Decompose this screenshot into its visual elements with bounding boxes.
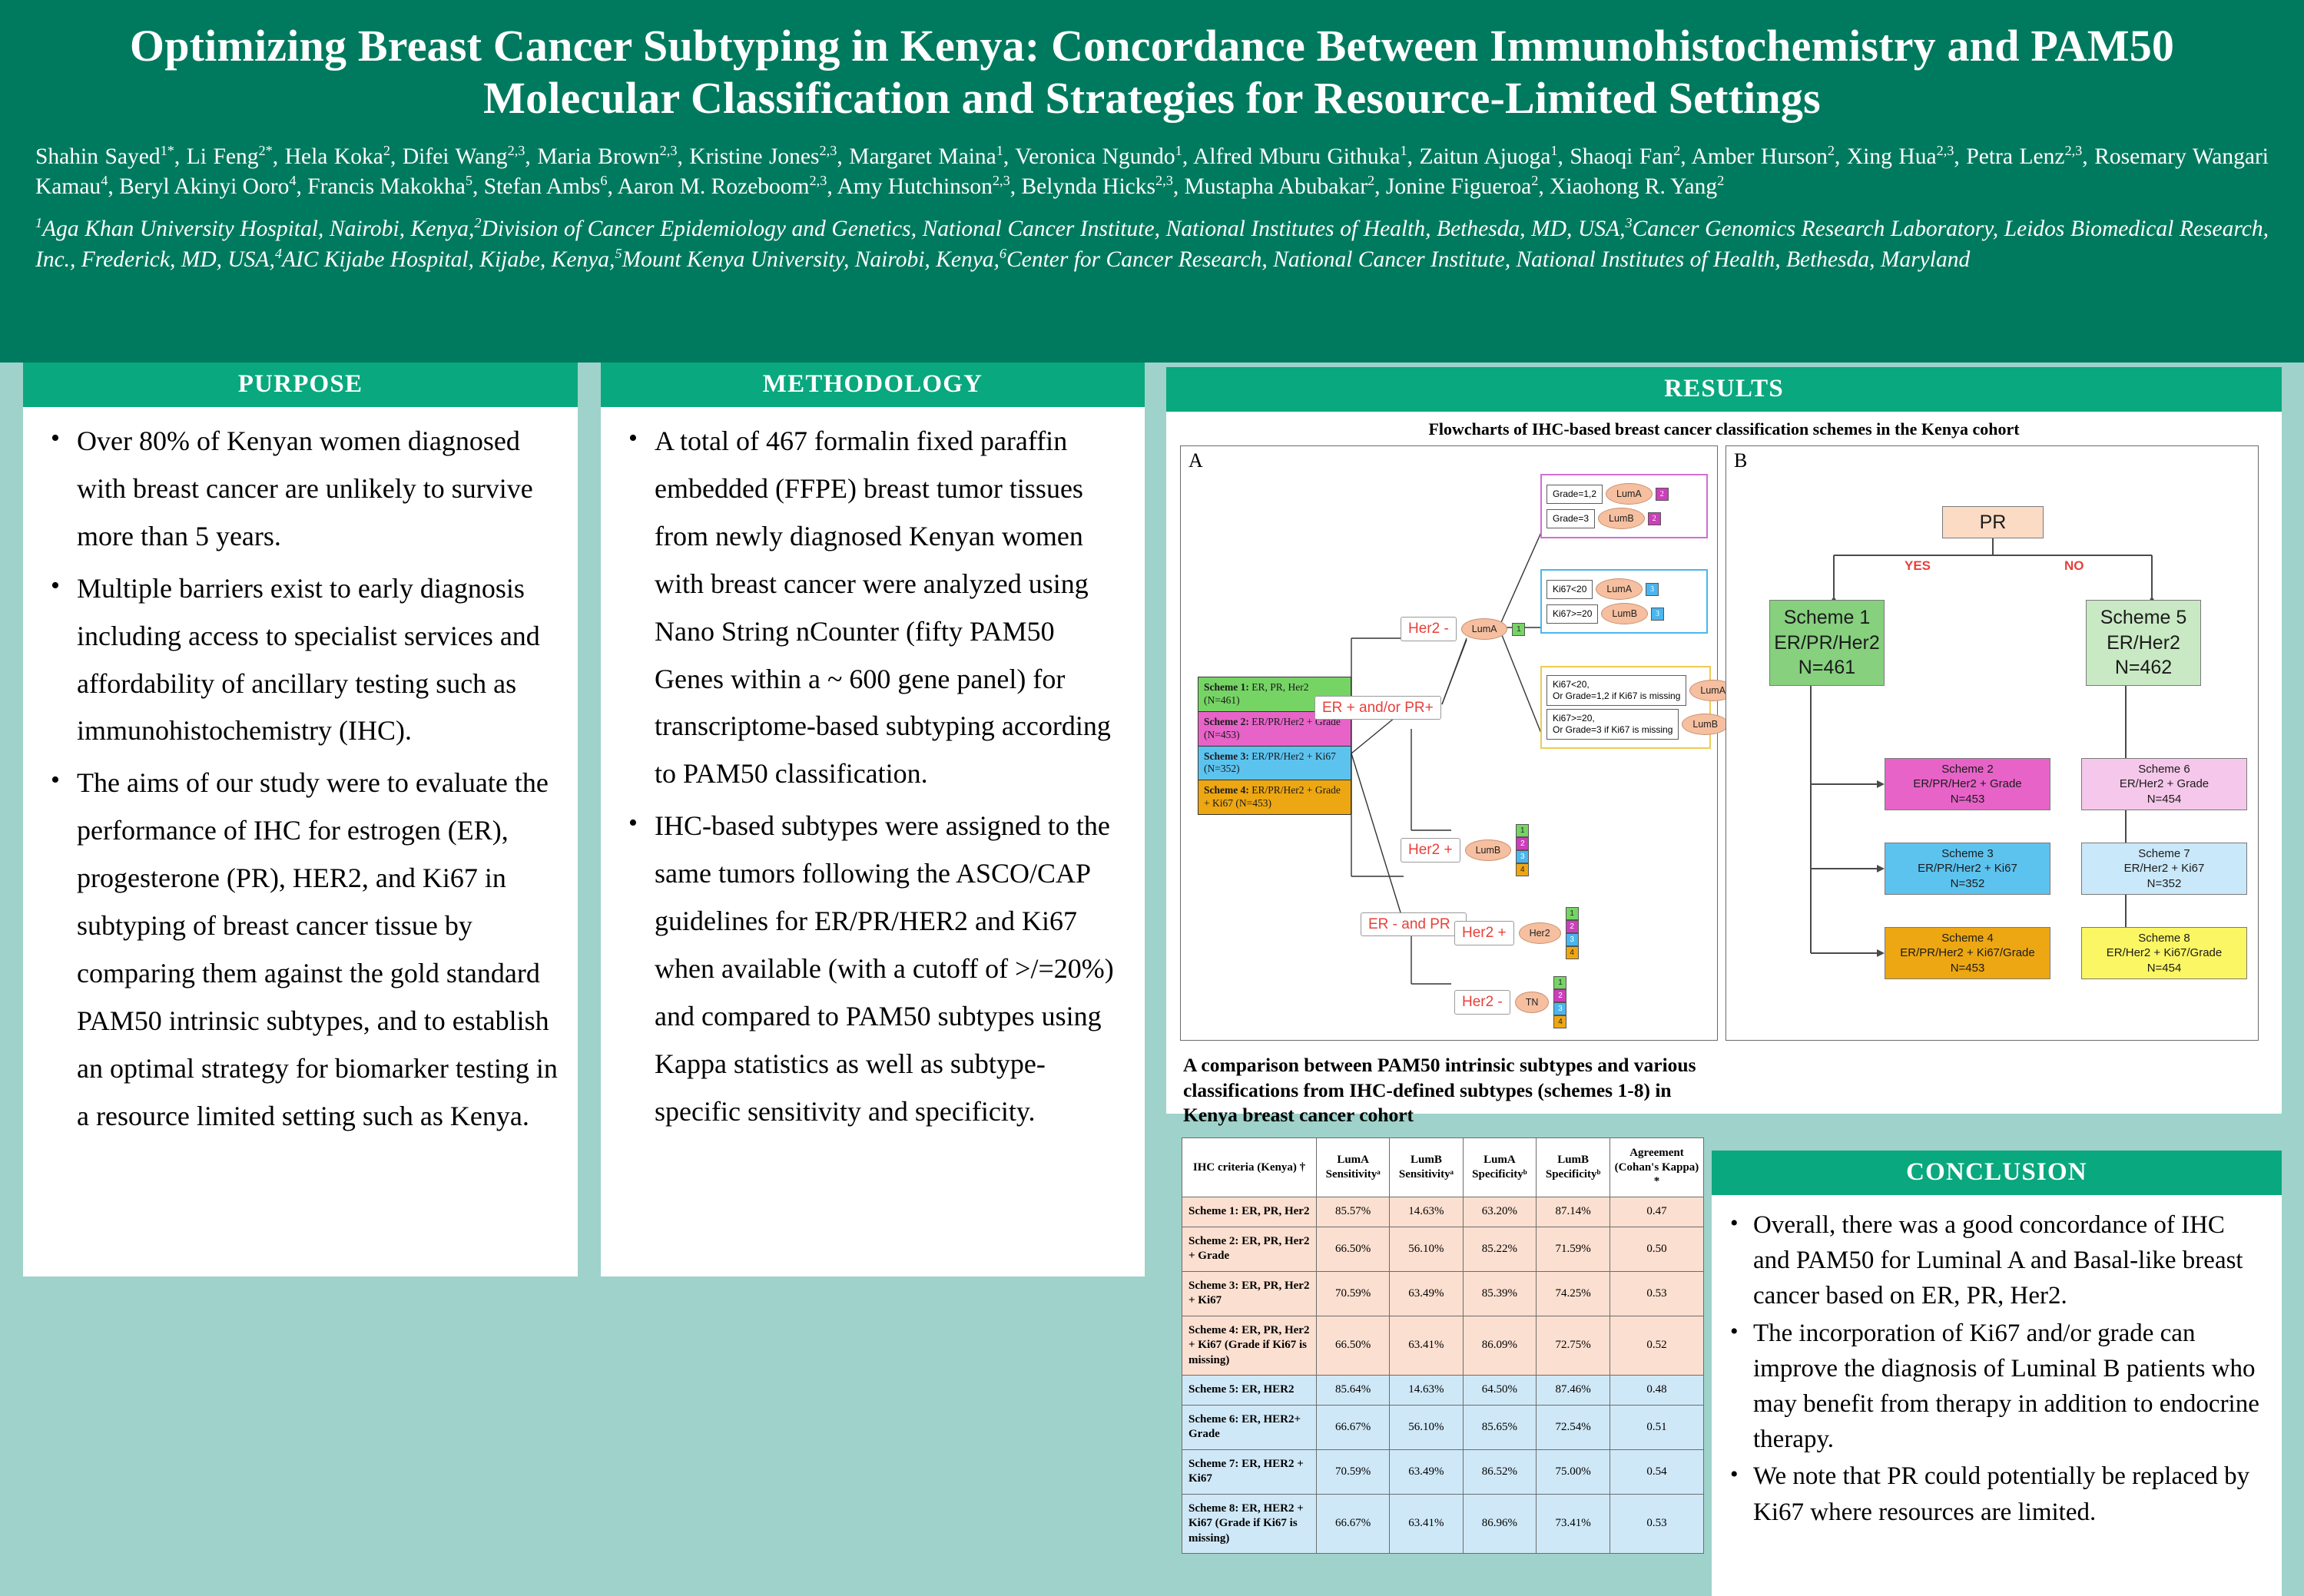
table-row: Scheme 2: ER, PR, Her2 + Grade66.50%56.1… [1182,1227,1704,1271]
table-cell: 86.09% [1463,1316,1537,1376]
table-cell: 66.50% [1317,1316,1390,1376]
er-pr-negative-node: ER - and PR - [1361,912,1467,936]
criteria-row: Ki67>=20LumB3 [1546,603,1702,624]
scheme-node: Scheme 3ER/PR/Her2 + Ki67N=352 [1885,843,2050,895]
table-column-header: LumA Specificityᵇ [1463,1137,1537,1197]
table-row-label: Scheme 7: ER, HER2 + Ki67 [1182,1449,1317,1494]
chip-3: 3 [1553,1002,1566,1015]
table-row: Scheme 1: ER, PR, Her285.57%14.63%63.20%… [1182,1197,1704,1227]
purpose-bullet: Multiple barriers exist to early diagnos… [43,565,558,756]
table-cell: 87.14% [1537,1197,1610,1227]
her2-negative-node-bottom: Her2 - [1454,990,1510,1015]
subtype-ellipse: LumB [1601,603,1648,624]
criteria-row: Ki67>=20,Or Grade=3 if Ki67 is missingLu… [1546,709,1705,740]
chip-4: 4 [1553,1015,1566,1028]
chip-2: 2 [1516,837,1529,850]
table-cell: 63.49% [1390,1449,1463,1494]
table-cell: 0.47 [1609,1197,1703,1227]
table-cell: 56.10% [1390,1405,1463,1449]
node-her2-pos-lumb: Her2 + LumB 1 2 3 4 [1401,824,1529,876]
scheme-5-root-node: Scheme 5ER/Her2N=462 [2086,600,2201,686]
table-cell: 66.67% [1317,1494,1390,1554]
chip-3: 3 [1566,933,1579,946]
table-cell: 0.50 [1609,1227,1703,1271]
table-column-header: LumB Sensitivityᵃ [1390,1137,1463,1197]
table-body: Scheme 1: ER, PR, Her285.57%14.63%63.20%… [1182,1197,1704,1554]
criteria-group-scheme2: Grade=1,2LumA2Grade=3LumB2 [1540,474,1708,538]
methodology-bullet: A total of 467 formalin fixed paraffin e… [621,418,1125,798]
table-header-row: IHC criteria (Kenya) †LumA SensitivityᵃL… [1182,1137,1704,1197]
scheme-chip: 3 [1646,583,1659,596]
table-column-header: IHC criteria (Kenya) † [1182,1137,1317,1197]
chip-1: 1 [1553,976,1566,989]
table-cell: 71.59% [1537,1227,1610,1271]
figure-caption: Flowcharts of IHC-based breast cancer cl… [1166,419,2282,439]
table-cell: 86.96% [1463,1494,1537,1554]
table-column-header: LumB Specificityᵇ [1537,1137,1610,1197]
flowchart-panel-a: A [1180,445,1718,1041]
scheme-node: Scheme 6ER/Her2 + GradeN=454 [2081,758,2247,810]
criteria-group-scheme4: Ki67<20,Or Grade=1,2 if Ki67 is missingL… [1540,666,1711,749]
table-cell: 87.46% [1537,1376,1610,1406]
table-row: Scheme 3: ER, PR, Her2 + Ki6770.59%63.49… [1182,1271,1704,1316]
table-cell: 0.54 [1609,1449,1703,1494]
table-cell: 73.41% [1537,1494,1610,1554]
methodology-heading: METHODOLOGY [601,363,1145,407]
yes-label: YES [1905,558,1931,574]
table-row: Scheme 6: ER, HER2+ Grade66.67%56.10%85.… [1182,1405,1704,1449]
table-cell: 85.57% [1317,1197,1390,1227]
scheme-node: Scheme 7ER/Her2 + Ki67N=352 [2081,843,2247,895]
table-cell: 66.67% [1317,1405,1390,1449]
table-cell: 70.59% [1317,1449,1390,1494]
er-pr-positive-node: ER + and/or PR+ [1314,696,1441,720]
section-methodology: METHODOLOGY A total of 467 formalin fixe… [601,363,1145,1276]
table-cell: 0.52 [1609,1316,1703,1376]
criteria-row: Ki67<20,Or Grade=1,2 if Ki67 is missingL… [1546,675,1705,706]
table-cell: 56.10% [1390,1227,1463,1271]
table-cell: 85.64% [1317,1376,1390,1406]
criteria-row: Ki67<20LumA3 [1546,578,1702,600]
table-row: Scheme 5: ER, HER285.64%14.63%64.50%87.4… [1182,1376,1704,1406]
her2-ellipse: Her2 [1519,922,1561,944]
chip-1: 1 [1566,907,1579,920]
no-label: NO [2064,558,2084,574]
table-caption: A comparison between PAM50 intrinsic sub… [1183,1053,1719,1128]
chip-4: 4 [1566,946,1579,959]
table-column-header: Agreement (Cohan's Kappa) * [1609,1137,1703,1197]
section-results: RESULTS Flowcharts of IHC-based breast c… [1166,367,2282,1114]
purpose-bullet: Over 80% of Kenyan women diagnosed with … [43,418,558,561]
table-cell: 0.53 [1609,1271,1703,1316]
poster-body: PURPOSE Over 80% of Kenyan women diagnos… [0,363,2304,1298]
table-row-label: Scheme 8: ER, HER2 + Ki67 (Grade if Ki67… [1182,1494,1317,1554]
table-cell: 63.41% [1390,1316,1463,1376]
table-row-label: Scheme 3: ER, PR, Her2 + Ki67 [1182,1271,1317,1316]
node-her2-neg-luminal: Her2 - LumA 1 [1401,617,1525,641]
subtype-ellipse: LumA [1606,483,1653,505]
chip-column-tn: 1 2 3 4 [1553,976,1566,1028]
criteria-row: Grade=3LumB2 [1546,508,1702,529]
table-cell: 14.63% [1390,1376,1463,1406]
criteria-group-scheme3: Ki67<20LumA3Ki67>=20LumB3 [1540,569,1708,634]
criteria-box: Grade=1,2 [1546,485,1603,504]
conclusion-bullet-list: Overall, there was a good concordance of… [1722,1207,2265,1530]
luma-ellipse-top: LumA [1461,618,1508,640]
methodology-body: A total of 467 formalin fixed paraffin e… [601,407,1145,1148]
section-purpose: PURPOSE Over 80% of Kenyan women diagnos… [23,363,578,1276]
her2-positive-node-top: Her2 + [1401,838,1460,863]
affiliation-list: 1Aga Khan University Hospital, Nairobi, … [35,214,2269,274]
table-row: Scheme 8: ER, HER2 + Ki67 (Grade if Ki67… [1182,1494,1704,1554]
table-row-label: Scheme 4: ER, PR, Her2 + Ki67 (Grade if … [1182,1316,1317,1376]
chip-4: 4 [1516,863,1529,876]
methodology-bullet-list: A total of 467 formalin fixed paraffin e… [621,418,1125,1136]
chip-2: 2 [1566,920,1579,933]
table-cell: 85.22% [1463,1227,1537,1271]
table-cell: 72.75% [1537,1316,1610,1376]
chip-2: 2 [1553,989,1566,1002]
her2-positive-node-bottom: Her2 + [1454,921,1514,945]
criteria-box: Grade=3 [1546,509,1595,528]
scheme-legend-item: Scheme 4: ER/PR/Her2 + Grade + Ki67 (N=4… [1198,780,1351,814]
table-column-header: LumA Sensitivityᵃ [1317,1137,1390,1197]
table-cell: 64.50% [1463,1376,1537,1406]
author-list: Shahin Sayed1*, Li Feng2*, Hela Koka2, D… [35,142,2269,202]
table-cell: 0.48 [1609,1376,1703,1406]
table-cell: 63.20% [1463,1197,1537,1227]
conclusion-body: Overall, there was a good concordance of… [1712,1195,2282,1539]
chip-scheme-1: 1 [1512,623,1525,636]
table-row-label: Scheme 6: ER, HER2+ Grade [1182,1405,1317,1449]
table-row-label: Scheme 2: ER, PR, Her2 + Grade [1182,1227,1317,1271]
page-title: Optimizing Breast Cancer Subtyping in Ke… [35,20,2269,125]
table-cell: 70.59% [1317,1271,1390,1316]
table-cell: 86.52% [1463,1449,1537,1494]
lumb-ellipse: LumB [1465,839,1512,861]
chip-column-her2: 1 2 3 4 [1566,907,1579,959]
table-cell: 74.25% [1537,1271,1610,1316]
pr-root-node: PR [1942,506,2044,538]
table-cell: 66.50% [1317,1227,1390,1271]
scheme-legend-item: Scheme 3: ER/PR/Her2 + Ki67 (N=352) [1198,747,1351,781]
conclusion-bullet: We note that PR could potentially be rep… [1722,1459,2265,1529]
subtype-ellipse: LumA [1596,578,1643,600]
table-cell: 14.63% [1390,1197,1463,1227]
flowchart-row: A [1166,445,2282,1051]
table-cell: 63.41% [1390,1494,1463,1554]
chip-3: 3 [1516,850,1529,863]
methodology-bullet: IHC-based subtypes were assigned to the … [621,803,1125,1135]
table-cell: 63.49% [1390,1271,1463,1316]
node-her2-pos-her2: Her2 + Her2 1 2 3 4 [1454,907,1579,959]
purpose-bullet-list: Over 80% of Kenyan women diagnosed with … [43,418,558,1141]
scheme-chip: 2 [1648,512,1661,525]
table-row-label: Scheme 5: ER, HER2 [1182,1376,1317,1406]
table-cell: 85.39% [1463,1271,1537,1316]
subtype-ellipse: LumB [1682,714,1729,735]
comparison-table: IHC criteria (Kenya) †LumA SensitivityᵃL… [1182,1137,1704,1554]
poster-header: Optimizing Breast Cancer Subtyping in Ke… [0,0,2304,363]
conclusion-bullet: The incorporation of Ki67 and/or grade c… [1722,1316,2265,1458]
purpose-heading: PURPOSE [23,363,578,407]
tn-ellipse: TN [1515,992,1550,1013]
scheme-chip: 3 [1651,608,1664,621]
node-er-neg-pr-neg: ER - and PR - [1361,916,1467,933]
subtype-ellipse: LumB [1598,508,1645,529]
criteria-box: Ki67<20,Or Grade=1,2 if Ki67 is missing [1546,675,1686,706]
criteria-box: Ki67>=20 [1546,604,1598,624]
node-er-pos-pr-pos: ER + and/or PR+ [1314,700,1441,717]
section-conclusion: CONCLUSION Overall, there was a good con… [1712,1151,2282,1596]
her2-negative-node: Her2 - [1401,617,1457,641]
criteria-box: Ki67>=20,Or Grade=3 if Ki67 is missing [1546,709,1679,740]
table-cell: 0.53 [1609,1494,1703,1554]
criteria-box: Ki67<20 [1546,580,1593,599]
flowchart-panel-b: B [1726,445,2259,1041]
scheme-1-root-node: Scheme 1ER/PR/Her2N=461 [1769,600,1885,686]
purpose-bullet: The aims of our study were to evaluate t… [43,760,558,1140]
purpose-body: Over 80% of Kenyan women diagnosed with … [23,407,578,1153]
criteria-row: Grade=1,2LumA2 [1546,483,1702,505]
scheme-node: Scheme 4ER/PR/Her2 + Ki67/GradeN=453 [1885,927,2050,979]
results-heading: RESULTS [1166,367,2282,412]
scheme-chip: 2 [1656,488,1669,501]
table-cell: 72.54% [1537,1405,1610,1449]
table-row: Scheme 7: ER, HER2 + Ki6770.59%63.49%86.… [1182,1449,1704,1494]
table-cell: 85.65% [1463,1405,1537,1449]
conclusion-heading: CONCLUSION [1712,1151,2282,1195]
chip-column-lumb: 1 2 3 4 [1516,824,1529,876]
node-her2-neg-tn: Her2 - TN 1 2 3 4 [1454,976,1566,1028]
scheme-node: Scheme 2ER/PR/Her2 + GradeN=453 [1885,758,2050,810]
table-cell: 0.51 [1609,1405,1703,1449]
table-row: Scheme 4: ER, PR, Her2 + Ki67 (Grade if … [1182,1316,1704,1376]
table-cell: 75.00% [1537,1449,1610,1494]
chip-1: 1 [1516,824,1529,837]
scheme-node: Scheme 8ER/Her2 + Ki67/GradeN=454 [2081,927,2247,979]
table-row-label: Scheme 1: ER, PR, Her2 [1182,1197,1317,1227]
